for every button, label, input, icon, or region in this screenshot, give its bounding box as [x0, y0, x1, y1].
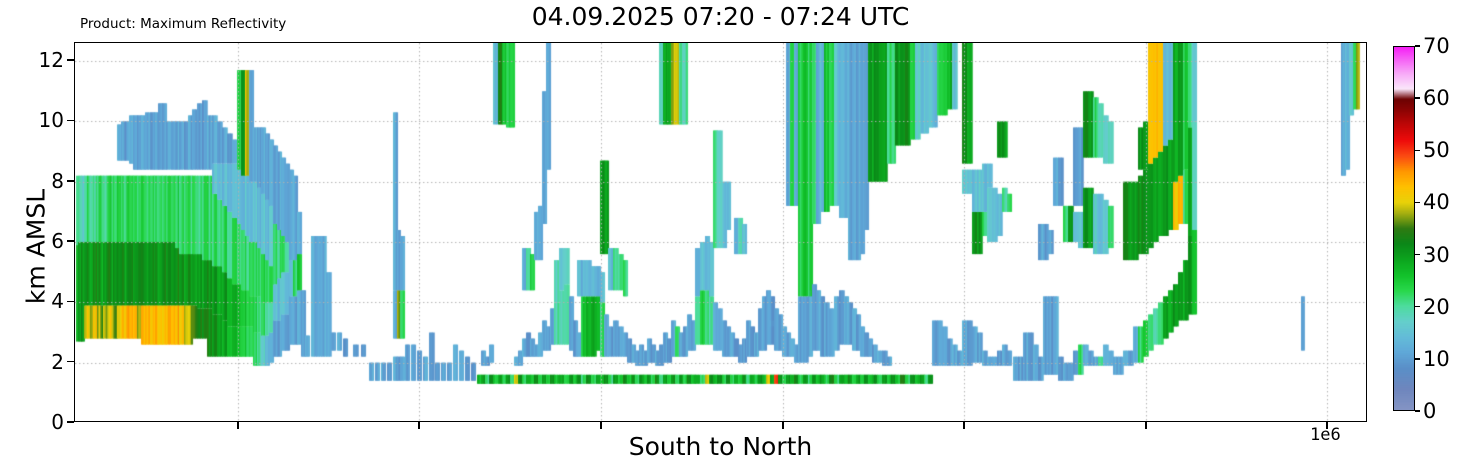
x-tick-mark: [418, 422, 420, 429]
colorbar-tick-label-20: 20: [1423, 295, 1450, 319]
colorbar-tick-mark: [1415, 97, 1420, 98]
colorbar-tick-label-10: 10: [1423, 347, 1450, 371]
y-tick-mark: [67, 421, 74, 423]
radar-cross-section-figure: 04.09.2025 07:20 - 07:24 UTC Product: Ma…: [0, 0, 1482, 470]
colorbar-tick-mark: [1415, 150, 1420, 151]
y-axis-label: km AMSL: [22, 147, 51, 347]
y-tick-label-10: 10: [39, 108, 64, 132]
y-tick-label-4: 4: [51, 289, 64, 313]
x-tick-mark: [1326, 422, 1328, 429]
colorbar-tick-label-30: 30: [1423, 243, 1450, 267]
colorbar-tick-mark: [1415, 306, 1420, 307]
y-tick-label-0: 0: [51, 410, 64, 434]
colorbar-gradient: [1394, 47, 1414, 410]
colorbar-tick-label-0: 0: [1423, 399, 1436, 423]
colorbar: [1393, 46, 1415, 411]
y-tick-mark: [67, 361, 74, 363]
colorbar-tick-label-50: 50: [1423, 138, 1450, 162]
colorbar-tick-mark: [1415, 254, 1420, 255]
y-tick-mark: [67, 301, 74, 303]
y-tick-label-8: 8: [51, 169, 64, 193]
x-axis-label: South to North: [74, 432, 1367, 461]
y-tick-mark: [67, 180, 74, 182]
reflectivity-heatmap-canvas: [75, 43, 1367, 422]
x-tick-mark: [237, 422, 239, 429]
x-tick-mark: [1145, 422, 1147, 429]
y-tick-label-6: 6: [51, 229, 64, 253]
colorbar-tick-mark: [1415, 358, 1420, 359]
colorbar-tick-mark: [1415, 45, 1420, 46]
colorbar-tick-label-70: 70: [1423, 34, 1450, 58]
y-tick-label-2: 2: [51, 350, 64, 374]
colorbar-tick-mark: [1415, 202, 1420, 203]
x-tick-mark: [782, 422, 784, 429]
colorbar-tick-label-60: 60: [1423, 86, 1450, 110]
plot-area: [74, 42, 1367, 422]
x-tick-mark: [600, 422, 602, 429]
colorbar-tick-mark: [1415, 410, 1420, 411]
y-tick-label-12: 12: [39, 48, 64, 72]
y-tick-mark: [67, 240, 74, 242]
x-tick-mark: [963, 422, 965, 429]
colorbar-tick-label-40: 40: [1423, 190, 1450, 214]
product-subtitle: Product: Maximum Reflectivity: [80, 16, 286, 32]
y-tick-mark: [67, 59, 74, 61]
y-tick-mark: [67, 120, 74, 122]
